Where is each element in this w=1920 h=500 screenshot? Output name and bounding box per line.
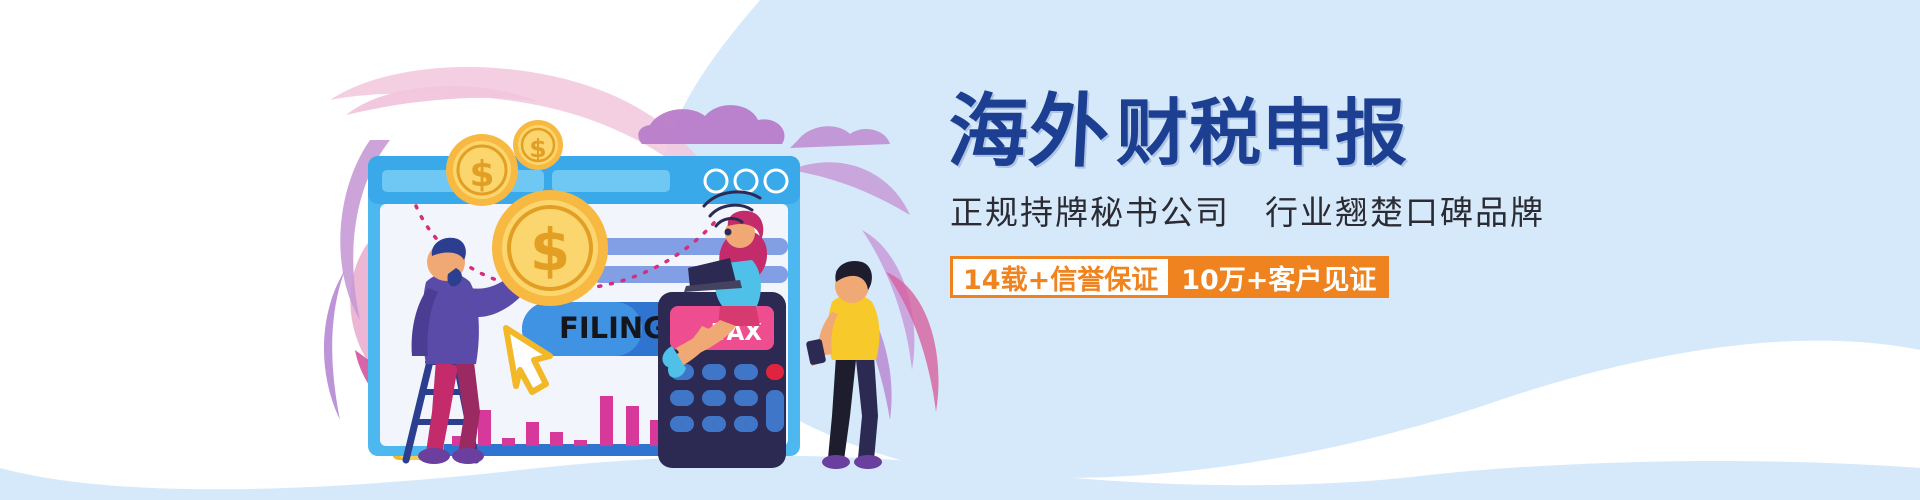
coin-medium: $: [446, 134, 518, 206]
banner-text-block: 海外 财税申报 正规持牌秘书公司 行业翘楚口碑品牌 14载+信誉保证 10万+客…: [948, 92, 1708, 298]
coin-large: $: [492, 190, 608, 306]
svg-text:$: $: [530, 216, 570, 284]
coin-small: $: [513, 120, 563, 170]
badge-group: 14载+信誉保证 10万+客户见证: [950, 256, 1708, 298]
status-badge-customers: 10万+客户见证: [1168, 256, 1389, 298]
character-man-with-phone: [806, 261, 882, 469]
headline-part-1: 海外: [946, 92, 1112, 172]
svg-text:FILING: FILING: [559, 311, 667, 345]
svg-text:$: $: [529, 134, 546, 163]
status-badge-experience: 14载+信誉保证: [950, 256, 1168, 298]
page-title: 海外 财税申报: [948, 92, 1708, 172]
promotional-banner: FILING: [0, 0, 1920, 500]
tax-filing-illustration: FILING: [250, 20, 950, 490]
subtitle: 正规持牌秘书公司 行业翘楚口碑品牌: [950, 186, 1708, 234]
svg-text:$: $: [469, 154, 494, 195]
headline-part-2: 财税申报: [1116, 97, 1408, 172]
cloud-shapes: [638, 105, 890, 148]
